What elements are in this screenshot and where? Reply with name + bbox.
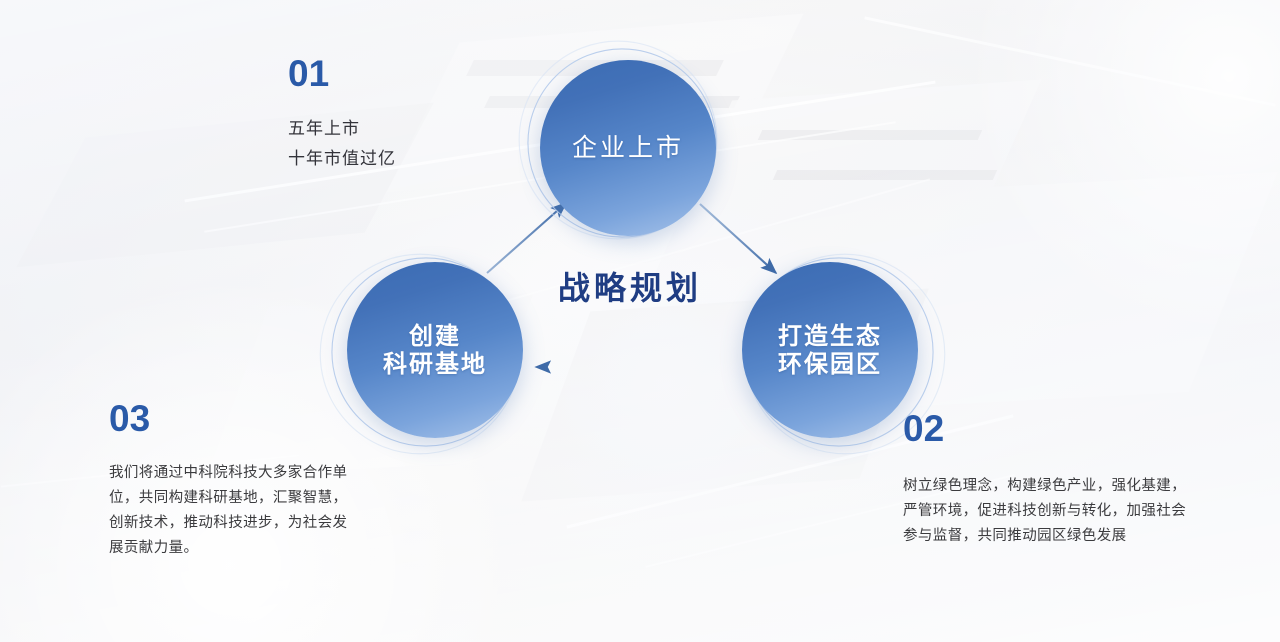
block-02: 02 树立绿色理念，构建绿色产业，强化基建， 严管环境，促进科技创新与转化，加强…	[903, 410, 1263, 549]
node-label: 打造生态 环保园区	[778, 322, 882, 379]
block-02-text: 树立绿色理念，构建绿色产业，强化基建， 严管环境，促进科技创新与转化，加强社会 …	[903, 474, 1263, 549]
node-eco-park[interactable]: 打造生态 环保园区	[742, 262, 918, 438]
block-01-text: 五年上市 十年市值过亿	[288, 114, 588, 174]
block-03-text: 我们将通过中科院科技大多家合作单 位，共同构建科研基地，汇聚智慧， 创新技术，推…	[109, 461, 409, 561]
node-label: 企业上市	[572, 133, 684, 163]
block-02-number: 02	[903, 410, 1263, 447]
block-01-number: 01	[288, 55, 588, 92]
block-01: 01 五年上市 十年市值过亿	[288, 55, 588, 174]
node-disc: 打造生态 环保园区	[742, 262, 918, 438]
block-03: 03 我们将通过中科院科技大多家合作单 位，共同构建科研基地，汇聚智慧， 创新技…	[109, 400, 409, 561]
block-03-number: 03	[109, 400, 409, 437]
node-label: 创建 科研基地	[383, 322, 487, 379]
center-title: 战略规划	[505, 263, 755, 309]
